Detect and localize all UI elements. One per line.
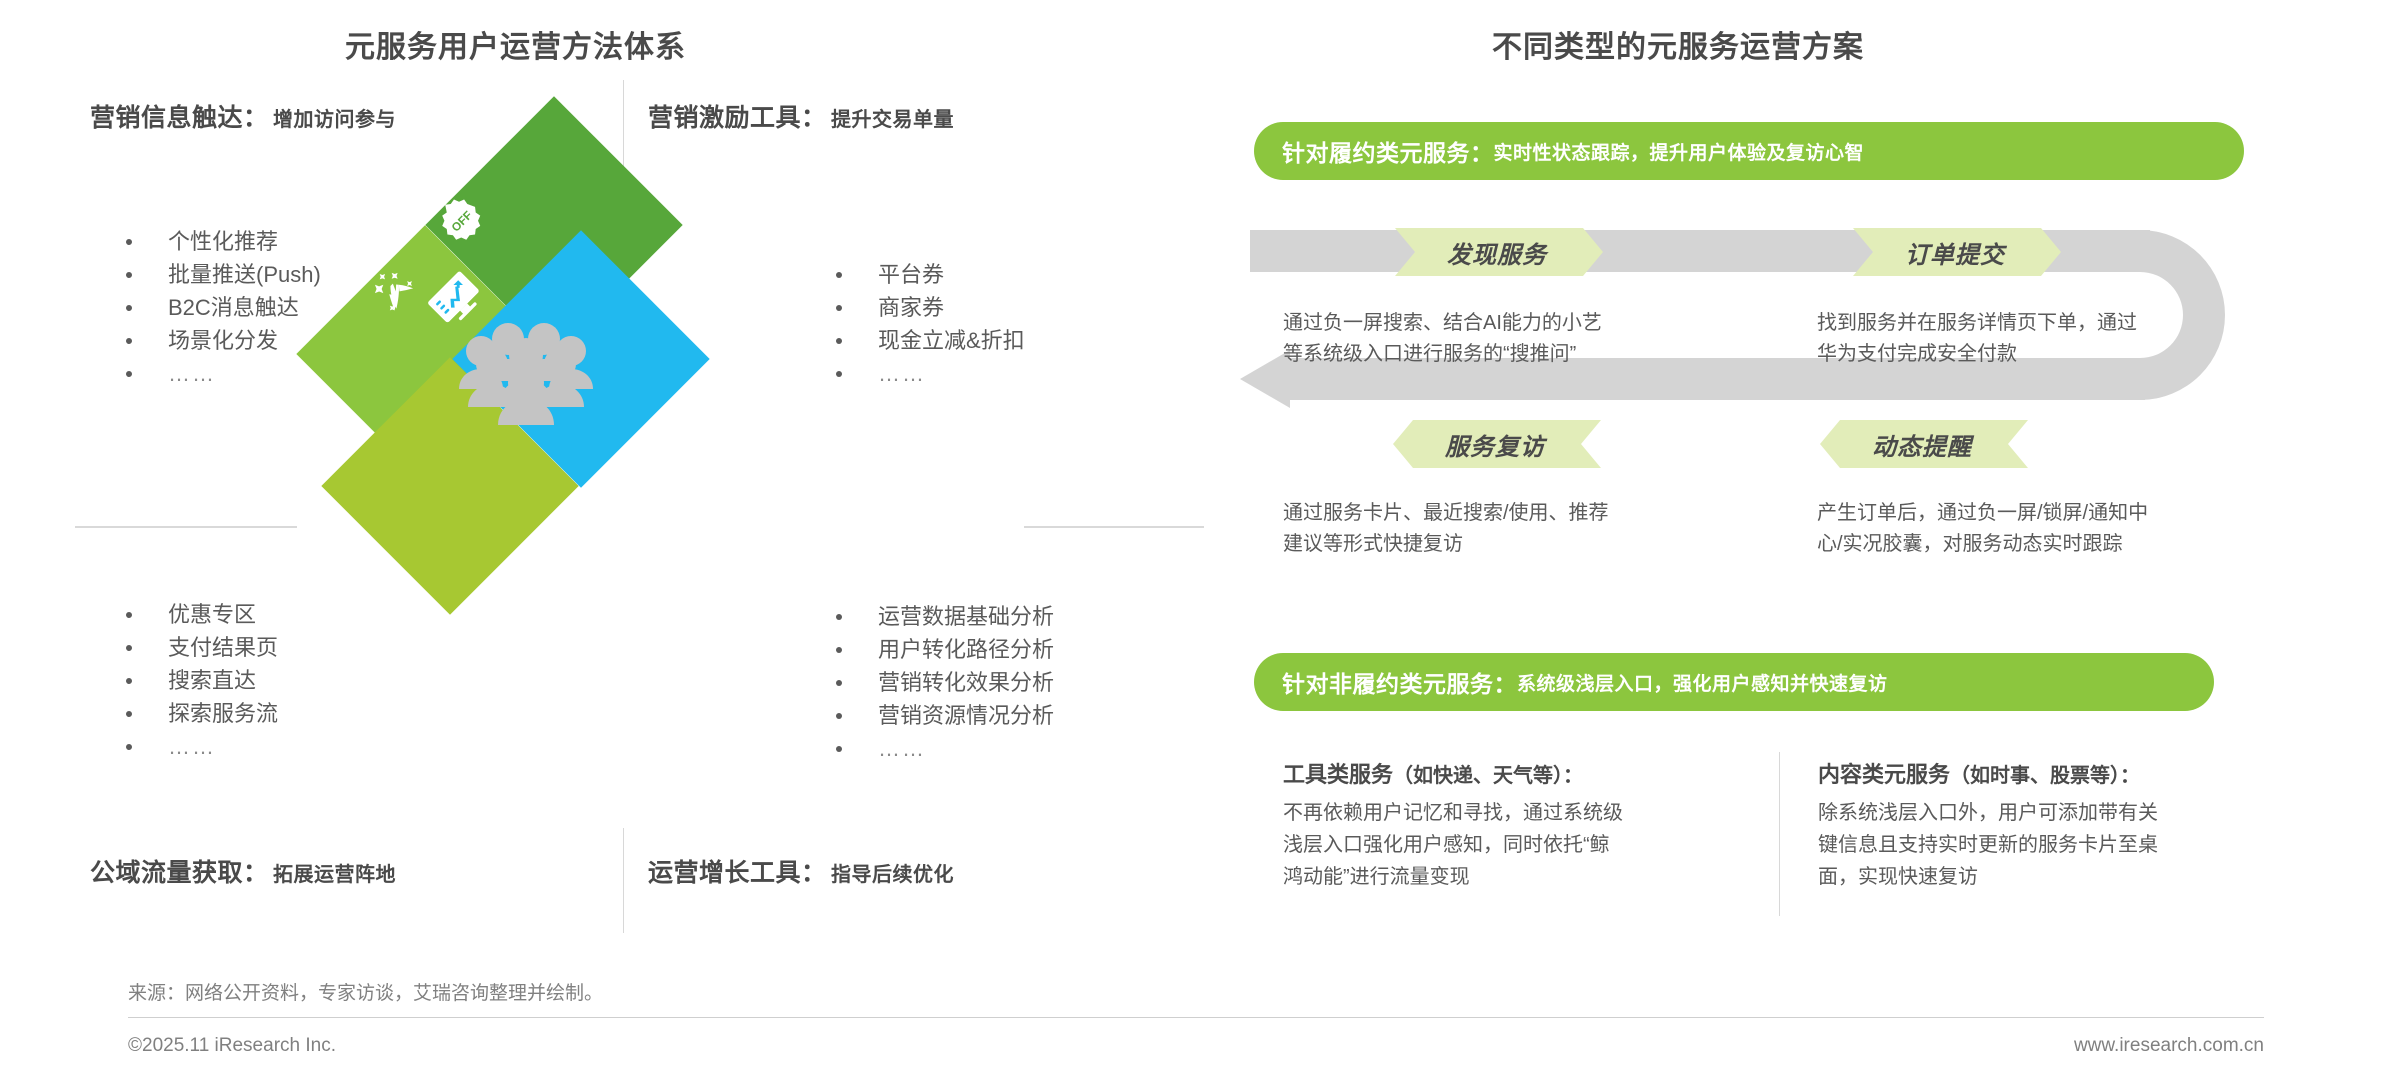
- section-title-paren: （如快递、天气等）：: [1393, 765, 1583, 787]
- quadrant-heading-sub: 拓展运营阵地: [273, 864, 396, 886]
- people-group-icon: [446, 315, 606, 425]
- left-horizontal-divider: [75, 526, 297, 528]
- bullet-list-bottom-right: 运营数据基础分析 用户转化路径分析 营销转化效果分析 营销资源情况分析 ……: [830, 600, 1054, 765]
- flow-step-label: 服务复访: [1445, 427, 1545, 462]
- quadrant-heading-strong: 公域流量获取：: [90, 859, 269, 887]
- list-item: 营销转化效果分析: [830, 666, 1054, 699]
- website-url[interactable]: www.iresearch.com.cn: [2074, 1035, 2264, 1057]
- list-item: 用户转化路径分析: [830, 633, 1054, 666]
- list-item: 现金立减&折扣: [830, 324, 1025, 357]
- section-body: 除系统浅层入口外，用户可添加带有关 键信息且支持实时更新的服务卡片至桌 面，实现…: [1818, 797, 2288, 893]
- quadrant-heading-sub: 提升交易单量: [831, 109, 954, 131]
- right-panel-title: 不同类型的元服务运营方案: [1492, 22, 1864, 66]
- source-note: 来源：网络公开资料，专家访谈，艾瑞咨询整理并绘制。: [128, 978, 603, 1005]
- flow-desc-discover-service: 通过负一屏搜索、结合AI能力的小艺 等系统级入口进行服务的“搜推问”: [1283, 308, 1683, 370]
- list-item: 搜索直达: [120, 664, 278, 697]
- section-title: 内容类元服务（如时事、股票等）：: [1818, 757, 2288, 789]
- flow-step-service-revisit: 服务复访: [1393, 420, 1601, 468]
- quadrant-heading-bottom-right: 运营增长工具： 指导后续优化: [648, 853, 954, 889]
- list-item: 平台券: [830, 258, 1025, 291]
- flow-desc-order-submit: 找到服务并在服务详情页下单，通过 华为支付完成安全付款: [1817, 308, 2217, 370]
- section-title-paren: （如时事、股票等）：: [1950, 765, 2140, 787]
- bottom-vertical-divider: [623, 828, 624, 933]
- flow-step-label: 动态提醒: [1872, 427, 1972, 462]
- section-title: 工具类服务（如快递、天气等）：: [1283, 757, 1733, 789]
- quadrant-heading-strong: 运营增长工具：: [648, 859, 827, 887]
- flow-step-discover-service: 发现服务: [1395, 228, 1603, 276]
- list-item: ……: [120, 357, 321, 390]
- quadrant-heading-top-right: 营销激励工具： 提升交易单量: [648, 98, 954, 134]
- section-tool-services: 工具类服务（如快递、天气等）： 不再依赖用户记忆和寻找，通过系统级 浅层入口强化…: [1283, 757, 1733, 893]
- list-item: ……: [830, 357, 1025, 390]
- diamond-graphic: OFF: [330, 163, 730, 563]
- list-item: 探索服务流: [120, 697, 278, 730]
- section-body: 不再依赖用户记忆和寻找，通过系统级 浅层入口强化用户感知，同时依托“鲸 鸿动能”…: [1283, 797, 1733, 893]
- flow-step-dynamic-reminder: 动态提醒: [1820, 420, 2028, 468]
- list-item: 运营数据基础分析: [830, 600, 1054, 633]
- list-item: 优惠专区: [120, 598, 278, 631]
- list-item: ……: [830, 732, 1054, 765]
- bullet-list-bottom-left: 优惠专区 支付结果页 搜索直达 探索服务流 ……: [120, 598, 278, 763]
- banner-strong-text: 针对履约类元服务：: [1282, 134, 1494, 168]
- list-item: 营销资源情况分析: [830, 699, 1054, 732]
- banner-sub-text: 系统级浅层入口，强化用户感知并快速复访: [1517, 669, 1888, 696]
- right-horizontal-divider: [1024, 526, 1204, 528]
- section-title-strong: 内容类元服务: [1818, 762, 1950, 787]
- list-item: 批量推送(Push): [120, 258, 321, 291]
- quadrant-heading-sub: 增加访问参与: [273, 109, 396, 131]
- copyright-text: ©2025.11 iResearch Inc.: [128, 1035, 336, 1057]
- flow-step-label: 订单提交: [1905, 235, 2005, 270]
- quadrant-heading-sub: 指导后续优化: [831, 864, 954, 886]
- list-item: B2C消息触达: [120, 291, 321, 324]
- flow-track: [1230, 210, 2250, 540]
- flow-desc-service-revisit: 通过服务卡片、最近搜索/使用、推荐 建议等形式快捷复访: [1283, 498, 1713, 560]
- banner-strong-text: 针对非履约类元服务：: [1282, 665, 1517, 699]
- quadrant-heading-strong: 营销激励工具：: [648, 104, 827, 132]
- section-vertical-divider: [1779, 752, 1780, 916]
- left-panel-title: 元服务用户运营方法体系: [345, 22, 686, 66]
- bullet-list-top-right: 平台券 商家券 现金立减&折扣 ……: [830, 258, 1025, 390]
- quadrant-heading-strong: 营销信息触达：: [90, 104, 269, 132]
- quadrant-heading-bottom-left: 公域流量获取： 拓展运营阵地: [90, 853, 396, 889]
- flow-step-order-submit: 订单提交: [1853, 228, 2061, 276]
- list-item: 支付结果页: [120, 631, 278, 664]
- flow-desc-dynamic-reminder: 产生订单后，通过负一屏/锁屏/通知中 心/实况胶囊，对服务动态实时跟踪: [1817, 498, 2257, 560]
- list-item: ……: [120, 730, 278, 763]
- list-item: 商家券: [830, 291, 1025, 324]
- footer-divider: [128, 1017, 2264, 1018]
- banner-sub-text: 实时性状态跟踪，提升用户体验及复访心智: [1494, 138, 1865, 165]
- bullet-list-top-left: 个性化推荐 批量推送(Push) B2C消息触达 场景化分发 ……: [120, 225, 321, 390]
- quadrant-heading-top-left: 营销信息触达： 增加访问参与: [90, 98, 396, 134]
- flow-step-label: 发现服务: [1447, 235, 1547, 270]
- section-content-services: 内容类元服务（如时事、股票等）： 除系统浅层入口外，用户可添加带有关 键信息且支…: [1818, 757, 2288, 893]
- banner-non-fulfillment-services: 针对非履约类元服务： 系统级浅层入口，强化用户感知并快速复访: [1254, 653, 2214, 711]
- list-item: 个性化推荐: [120, 225, 321, 258]
- section-title-strong: 工具类服务: [1283, 762, 1393, 787]
- list-item: 场景化分发: [120, 324, 321, 357]
- infographic-page: 元服务用户运营方法体系 营销信息触达： 增加访问参与 营销激励工具： 提升交易单…: [0, 0, 2392, 1078]
- banner-fulfillment-services: 针对履约类元服务： 实时性状态跟踪，提升用户体验及复访心智: [1254, 122, 2244, 180]
